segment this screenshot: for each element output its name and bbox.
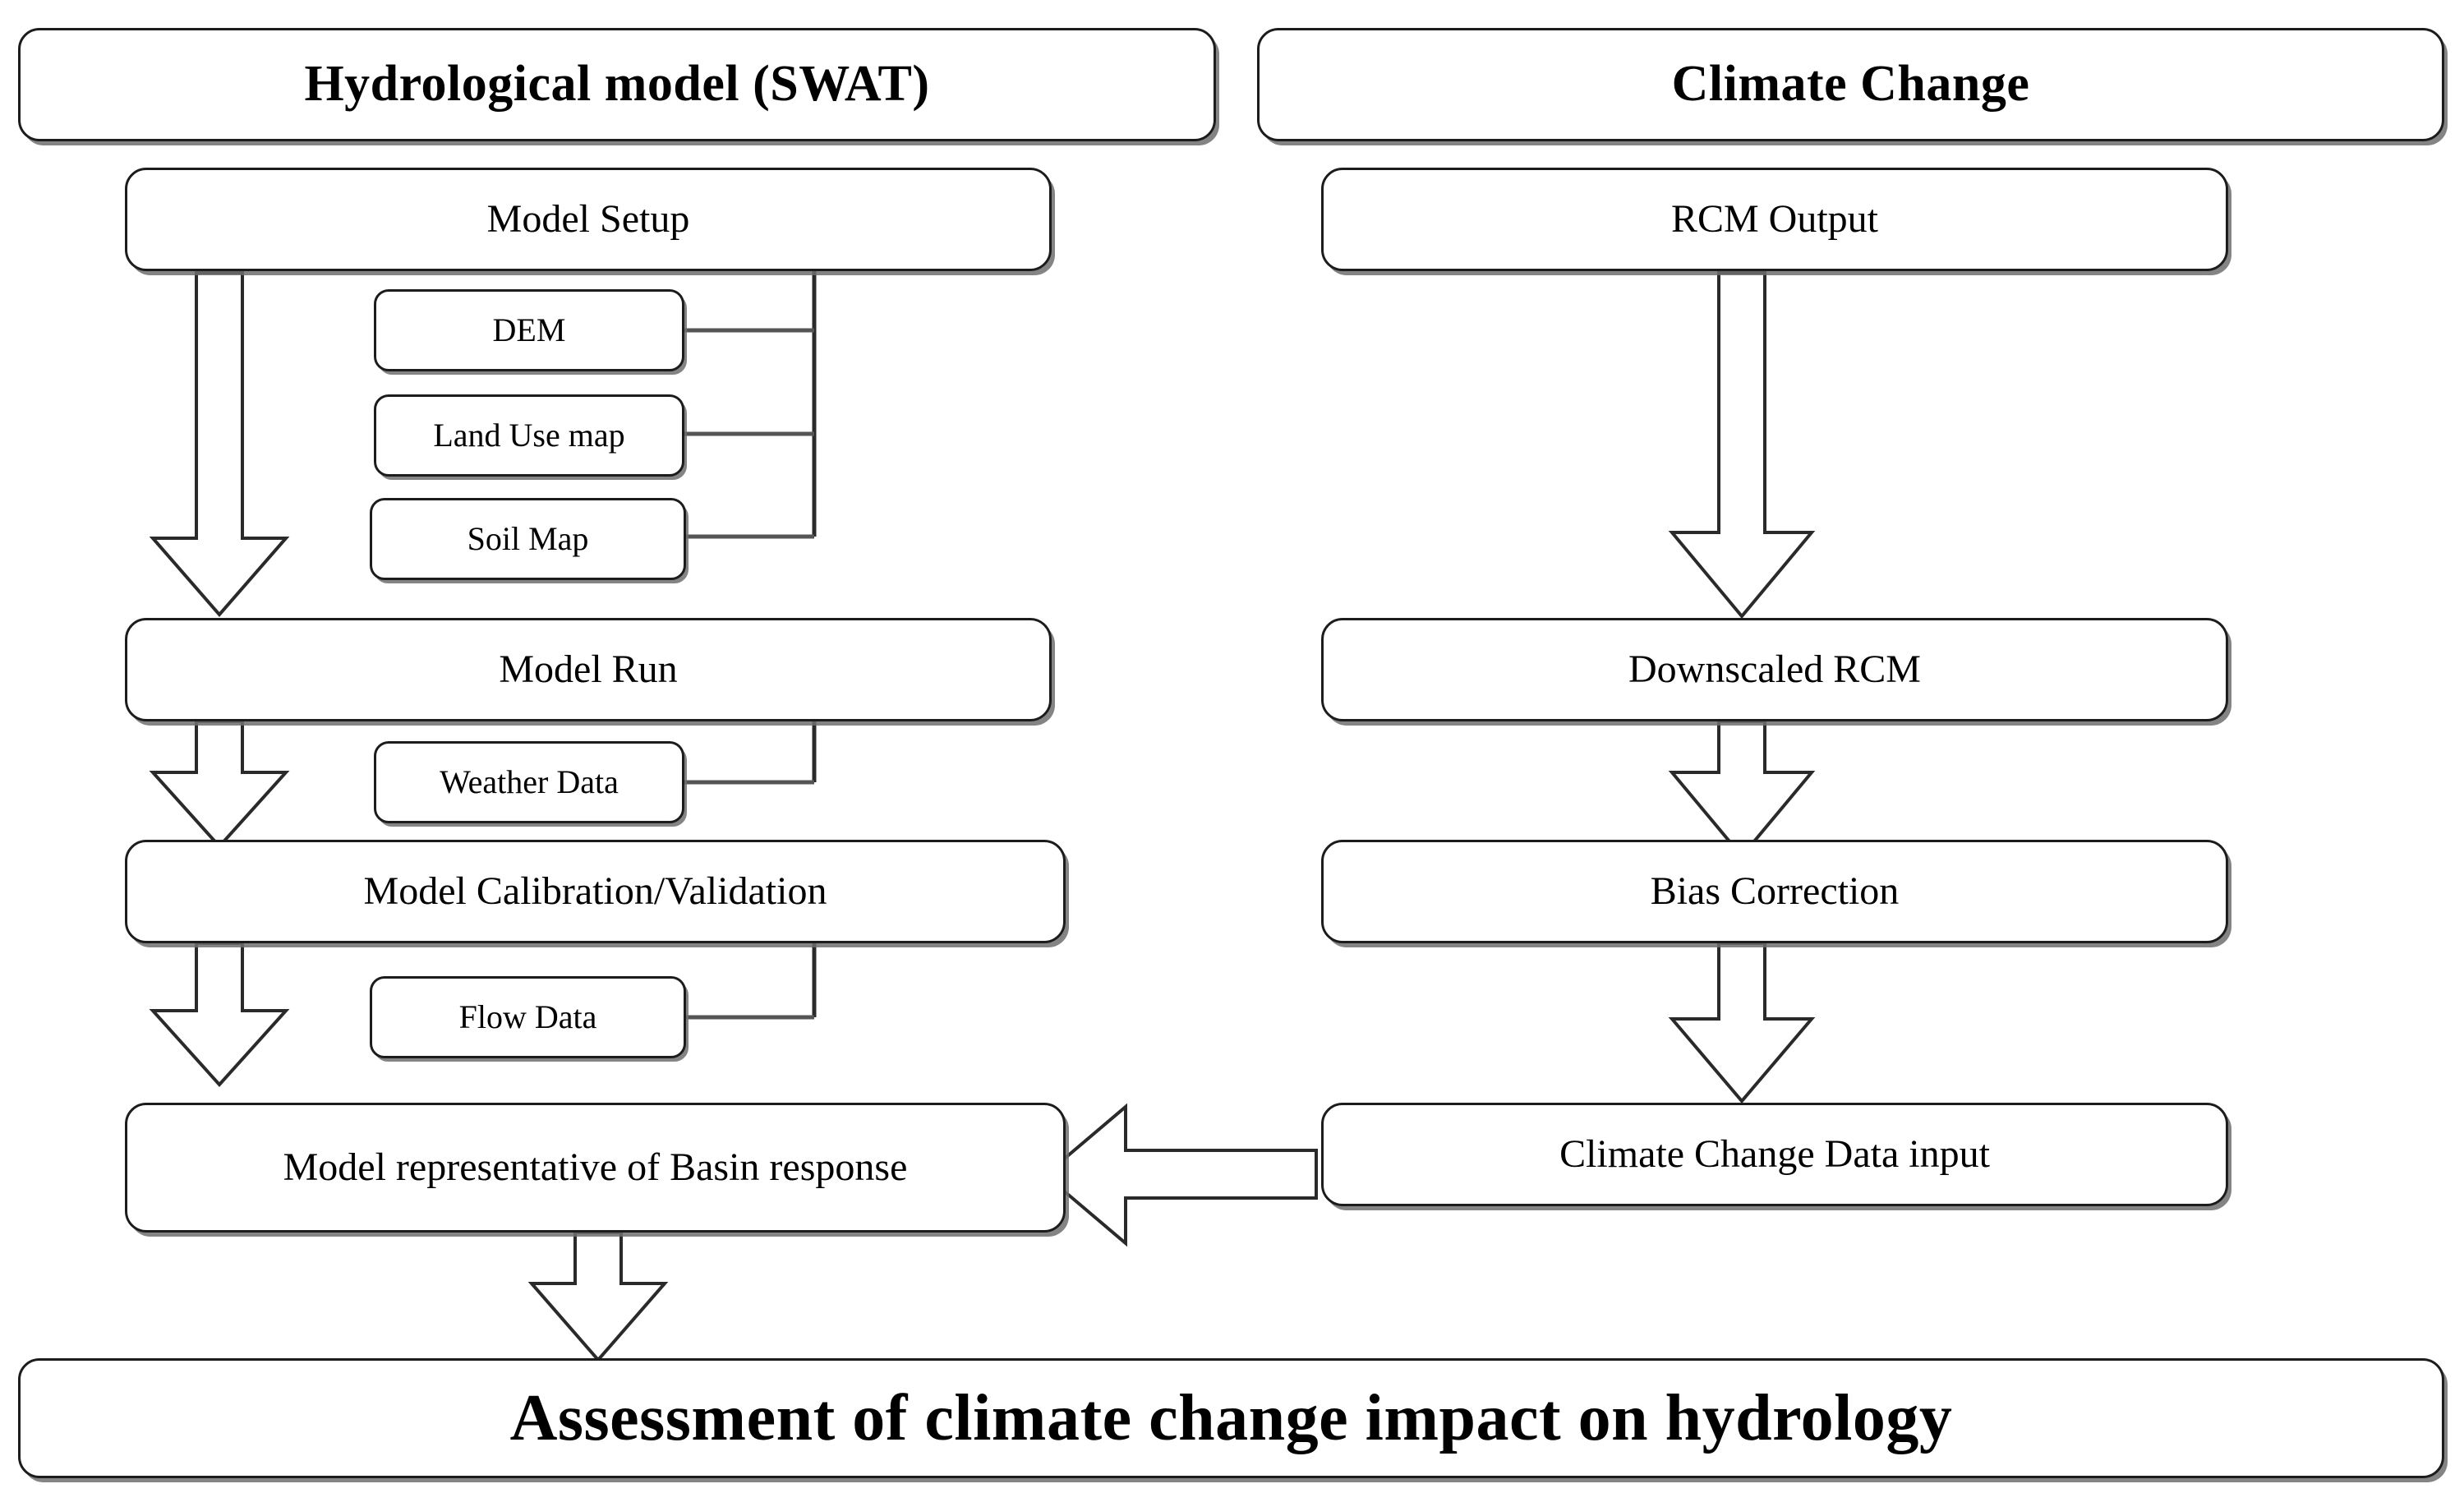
arrow-calibration-to-basin-response [153,943,286,1085]
node-weather-data-label: Weather Data [440,765,619,799]
node-model-representative-of-basin-response-label: Model representative of Basin response [283,1147,908,1188]
node-flow-data-label: Flow Data [459,1000,597,1035]
arrow-model-setup-to-model-run [153,273,286,615]
node-land-use-map[interactable]: Land Use map [374,394,684,477]
node-flow-data[interactable]: Flow Data [370,976,686,1058]
node-soil-map-label: Soil Map [467,522,589,556]
arrow-data-input-to-basin-response [1045,1107,1316,1243]
arrow-model-run-to-calibration [153,721,286,846]
node-downscaled-rcm-label: Downscaled RCM [1628,649,1921,690]
node-dem[interactable]: DEM [374,289,684,371]
node-model-calibration-validation-label: Model Calibration/Validation [364,871,827,912]
node-model-setup-label: Model Setup [487,199,690,240]
header-climate-change-label: Climate Change [1672,58,2030,111]
arrow-rcm-output-to-downscaled [1672,273,1812,616]
node-downscaled-rcm[interactable]: Downscaled RCM [1321,618,2228,721]
node-model-calibration-validation[interactable]: Model Calibration/Validation [125,840,1066,943]
header-hydrological-model: Hydrological model (SWAT) [18,28,1216,141]
node-land-use-map-label: Land Use map [433,418,624,453]
header-hydrological-model-label: Hydrological model (SWAT) [304,58,929,111]
node-weather-data[interactable]: Weather Data [374,741,684,823]
node-climate-change-data-input-label: Climate Change Data input [1559,1134,1990,1175]
flowchart-canvas: Hydrological model (SWAT) Model Setup DE… [0,0,2464,1493]
node-rcm-output-label: RCM Output [1671,199,1878,240]
node-model-setup[interactable]: Model Setup [125,168,1052,271]
node-model-run[interactable]: Model Run [125,618,1052,721]
node-bias-correction[interactable]: Bias Correction [1321,840,2228,943]
node-model-run-label: Model Run [499,649,677,690]
arrow-basin-response-to-assessment [532,1233,665,1360]
arrow-bias-correction-to-data-input [1672,943,1812,1101]
node-model-representative-of-basin-response[interactable]: Model representative of Basin response [125,1103,1066,1233]
node-assessment-banner: Assessment of climate change impact on h… [18,1358,2444,1478]
header-climate-change: Climate Change [1257,28,2444,141]
node-rcm-output[interactable]: RCM Output [1321,168,2228,271]
node-soil-map[interactable]: Soil Map [370,498,686,580]
node-bias-correction-label: Bias Correction [1651,871,1900,912]
node-assessment-banner-label: Assessment of climate change impact on h… [510,1384,1953,1453]
node-dem-label: DEM [493,313,566,348]
node-climate-change-data-input[interactable]: Climate Change Data input [1321,1103,2228,1206]
arrow-downscaled-to-bias-correction [1672,721,1812,856]
